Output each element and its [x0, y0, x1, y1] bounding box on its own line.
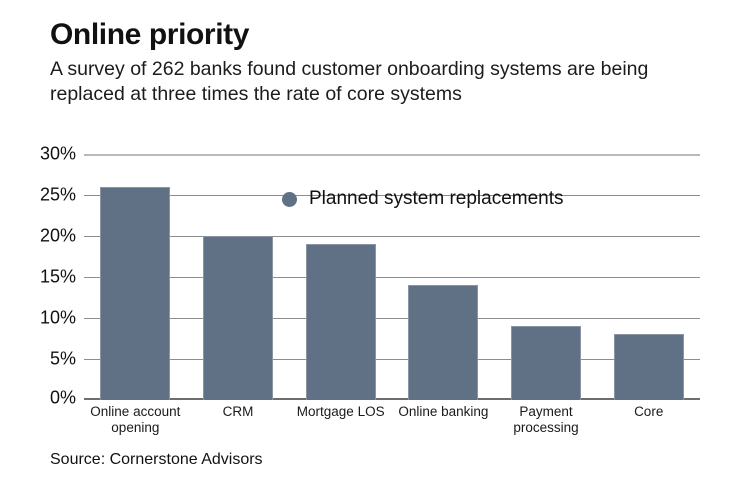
bar-online-banking[interactable] — [408, 285, 478, 400]
x-axis-label: Payment processing — [495, 404, 598, 437]
chart-header: Online priority A survey of 262 banks fo… — [50, 18, 710, 107]
y-axis-tick: 10% — [40, 308, 76, 329]
y-axis-tick: 5% — [50, 349, 76, 370]
y-axis-tick: 15% — [40, 267, 76, 288]
x-axis-label: CRM — [187, 404, 290, 437]
bar-mortgage-los[interactable] — [306, 244, 376, 400]
bar-core[interactable] — [614, 334, 684, 400]
chart-subtitle: A survey of 262 banks found customer onb… — [50, 57, 690, 107]
bar-slot — [84, 152, 187, 400]
chart-source: Source: Cornerstone Advisors — [50, 451, 263, 469]
chart-plot-area: 30% 25% 20% 15% 10% 5% 0% — [0, 152, 740, 422]
x-axis-label: Mortgage LOS — [289, 404, 392, 437]
chart-legend: Planned system replacements — [282, 188, 564, 210]
chart-page: Online priority A survey of 262 banks fo… — [0, 0, 740, 482]
y-axis-tick: 0% — [50, 388, 76, 409]
y-axis: 30% 25% 20% 15% 10% 5% 0% — [0, 152, 84, 400]
legend-marker-icon — [282, 192, 297, 207]
bar-slot — [187, 152, 290, 400]
page-title: Online priority — [50, 18, 710, 51]
legend-item-label: Planned system replacements — [309, 188, 564, 210]
y-axis-tick: 25% — [40, 185, 76, 206]
y-axis-tick: 20% — [40, 226, 76, 247]
x-axis: Online account opening CRM Mortgage LOS … — [84, 404, 700, 437]
bar-crm[interactable] — [203, 236, 273, 400]
x-axis-label: Core — [597, 404, 700, 437]
x-axis-label: Online account opening — [84, 404, 187, 437]
bar-payment-processing[interactable] — [511, 326, 581, 400]
bar-slot — [597, 152, 700, 400]
x-axis-label: Online banking — [392, 404, 495, 437]
y-axis-tick: 30% — [40, 144, 76, 165]
bar-online-account-opening[interactable] — [100, 187, 170, 400]
